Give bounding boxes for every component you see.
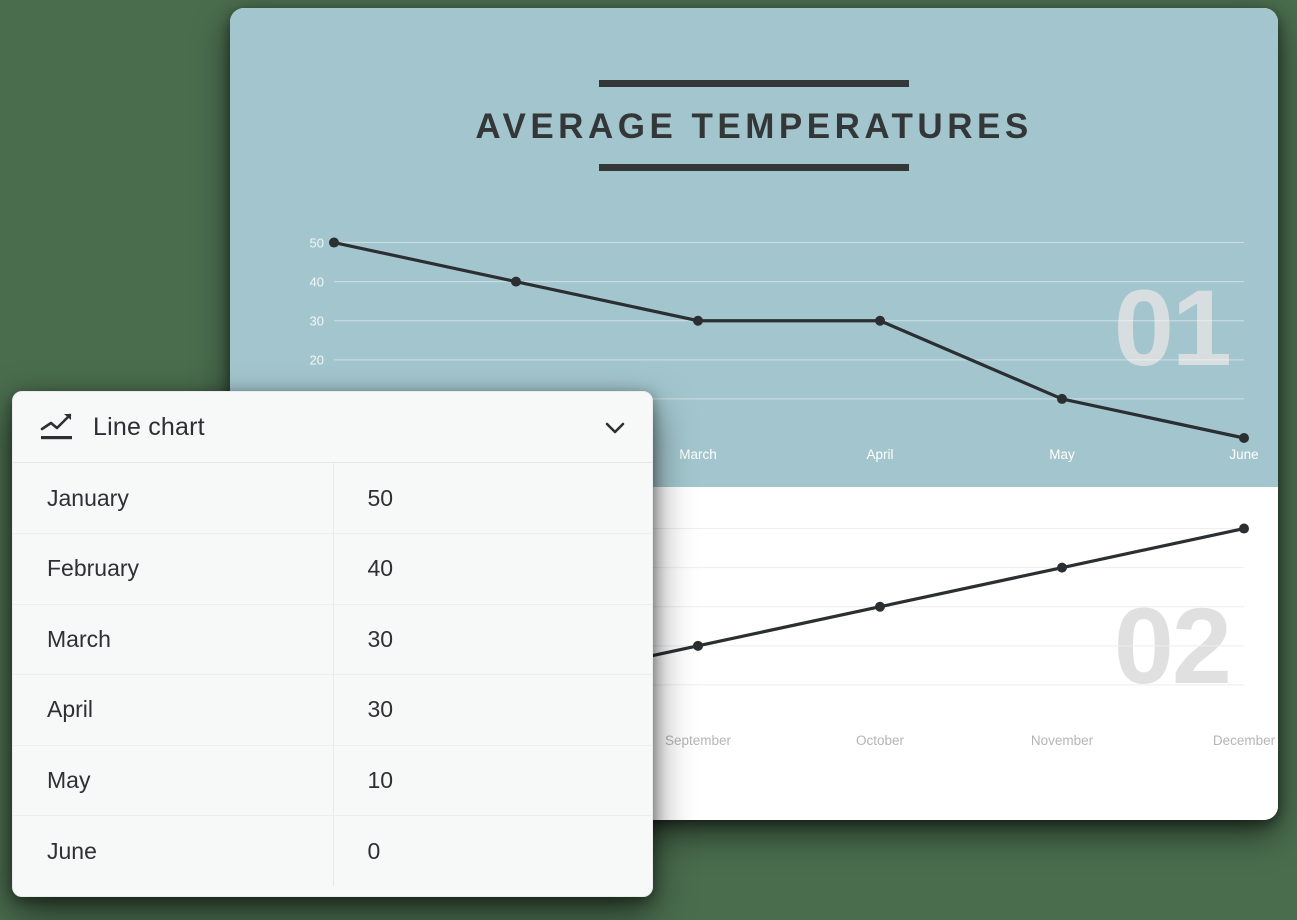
data-point [511,277,521,287]
table-row[interactable]: April30 [13,675,652,746]
data-row-value[interactable]: 30 [333,604,652,675]
data-point [1057,563,1067,573]
data-row-value[interactable]: 40 [333,534,652,605]
table-row[interactable]: May10 [13,745,652,816]
data-row-value[interactable]: 50 [333,463,652,534]
chart-type-selector[interactable]: Line chart [13,392,652,463]
data-row-value[interactable]: 30 [333,675,652,746]
chart-data-panel[interactable]: Line chart January50February40March30Apr… [12,391,653,897]
y-axis-tick-label: 50 [310,235,324,250]
data-row-label[interactable]: April [13,675,333,746]
data-point [875,602,885,612]
title-block: AVERAGE TEMPERATURES [230,80,1278,171]
chart-data-table[interactable]: January50February40March30April30May10Ju… [13,463,652,886]
chevron-down-icon[interactable] [602,414,628,440]
y-axis-tick-label: 30 [310,313,324,328]
data-point [693,316,703,326]
y-axis-tick-label: 20 [310,352,324,367]
data-row-label[interactable]: January [13,463,333,534]
y-axis-tick-label: 40 [310,274,324,289]
data-point [1057,394,1067,404]
table-row[interactable]: February40 [13,534,652,605]
page-title: AVERAGE TEMPERATURES [230,109,1278,144]
data-row-label[interactable]: February [13,534,333,605]
x-axis-tick-label: June [1229,447,1258,462]
data-row-label[interactable]: May [13,745,333,816]
data-point [693,641,703,651]
chart-type-label: Line chart [93,413,602,442]
line-chart-icon [39,412,75,442]
data-row-label[interactable]: March [13,604,333,675]
x-axis-tick-label: October [856,733,904,748]
data-row-value[interactable]: 10 [333,745,652,816]
table-row[interactable]: January50 [13,463,652,534]
x-axis-tick-label: March [679,447,717,462]
data-point [1239,524,1249,534]
data-point [875,316,885,326]
table-row[interactable]: March30 [13,604,652,675]
x-axis-tick-label: December [1213,733,1275,748]
data-point [329,238,339,248]
chart-data-table-body: January50February40March30April30May10Ju… [13,463,652,886]
data-row-label[interactable]: June [13,816,333,887]
data-point [1239,433,1249,443]
table-row[interactable]: June0 [13,816,652,887]
x-axis-tick-label: November [1031,733,1093,748]
x-axis-tick-label: September [665,733,731,748]
x-axis-tick-label: May [1049,447,1075,462]
title-rule-top [599,80,909,87]
data-row-value[interactable]: 0 [333,816,652,887]
x-axis-tick-label: April [866,447,893,462]
title-rule-bottom [599,164,909,171]
